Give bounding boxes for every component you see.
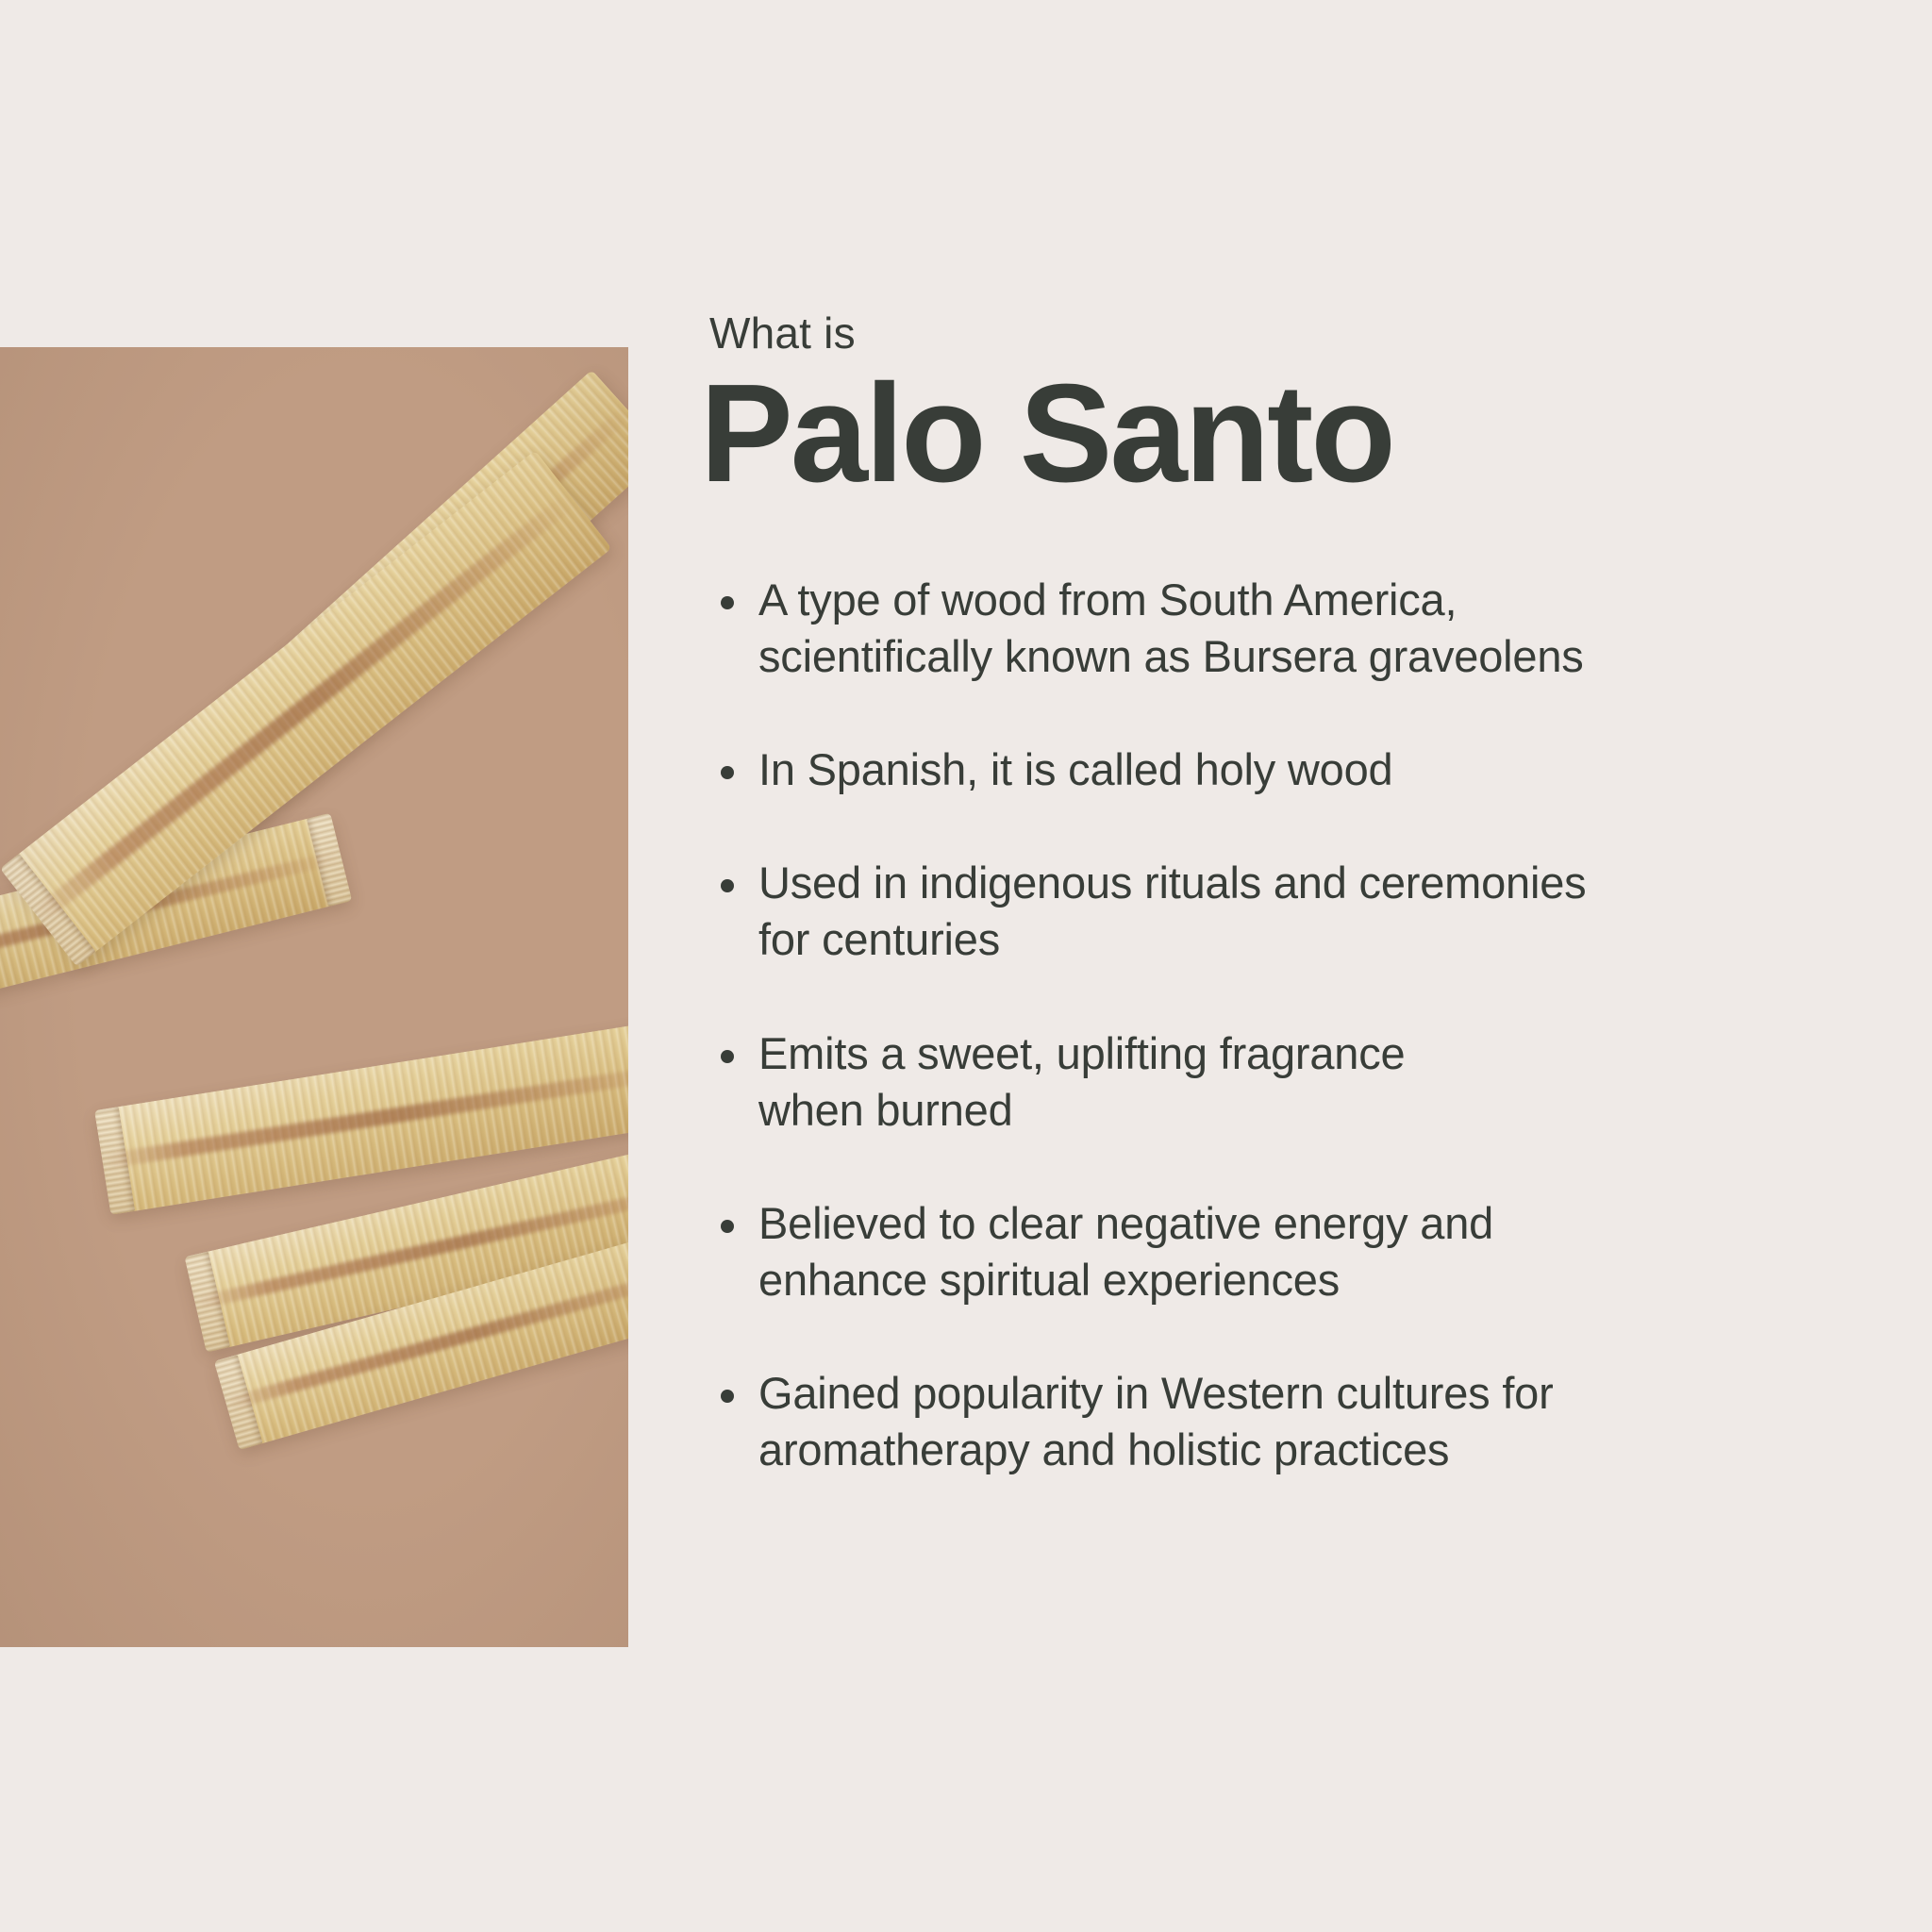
list-item: Used in indigenous rituals and ceremonie… (700, 855, 1860, 968)
bullet-dot-icon (721, 879, 734, 892)
list-item-line2: when burned (758, 1085, 1013, 1135)
list-item-line1: Emits a sweet, uplifting fragrance (758, 1028, 1405, 1078)
list-item: In Spanish, it is called holy wood (700, 741, 1860, 798)
bullet-dot-icon (721, 1220, 734, 1233)
palo-santo-image-panel (0, 347, 628, 1647)
list-item: Gained popularity in Western cultures fo… (700, 1365, 1860, 1478)
list-item-line1: A type of wood from South America, (758, 575, 1457, 625)
page-title: Palo Santo (700, 358, 1860, 509)
list-item-line2: scientifically known as Bursera graveole… (758, 631, 1584, 681)
list-item-line1: Gained popularity in Western cultures fo… (758, 1368, 1554, 1418)
fact-list: A type of wood from South America, scien… (700, 572, 1860, 1479)
list-item-line1: Believed to clear negative energy and (758, 1198, 1493, 1248)
list-item-line2: for centuries (758, 914, 1000, 964)
list-item-line1: In Spanish, it is called holy wood (758, 744, 1392, 794)
list-item-line1: Used in indigenous rituals and ceremonie… (758, 858, 1586, 908)
list-item-line2: enhance spiritual experiences (758, 1255, 1340, 1305)
bullet-dot-icon (721, 766, 734, 779)
list-item-line2: aromatherapy and holistic practices (758, 1424, 1449, 1474)
eyebrow-label: What is (709, 311, 1860, 355)
wood-sticks-illustration (0, 347, 628, 1647)
list-item: Believed to clear negative energy and en… (700, 1195, 1860, 1308)
content-column: What is Palo Santo A type of wood from S… (700, 311, 1860, 1479)
list-item: Emits a sweet, uplifting fragrance when … (700, 1025, 1860, 1139)
bullet-dot-icon (721, 596, 734, 609)
bullet-dot-icon (721, 1050, 734, 1063)
list-item: A type of wood from South America, scien… (700, 572, 1860, 685)
poster-canvas: What is Palo Santo A type of wood from S… (0, 0, 1932, 1932)
bullet-dot-icon (721, 1390, 734, 1403)
